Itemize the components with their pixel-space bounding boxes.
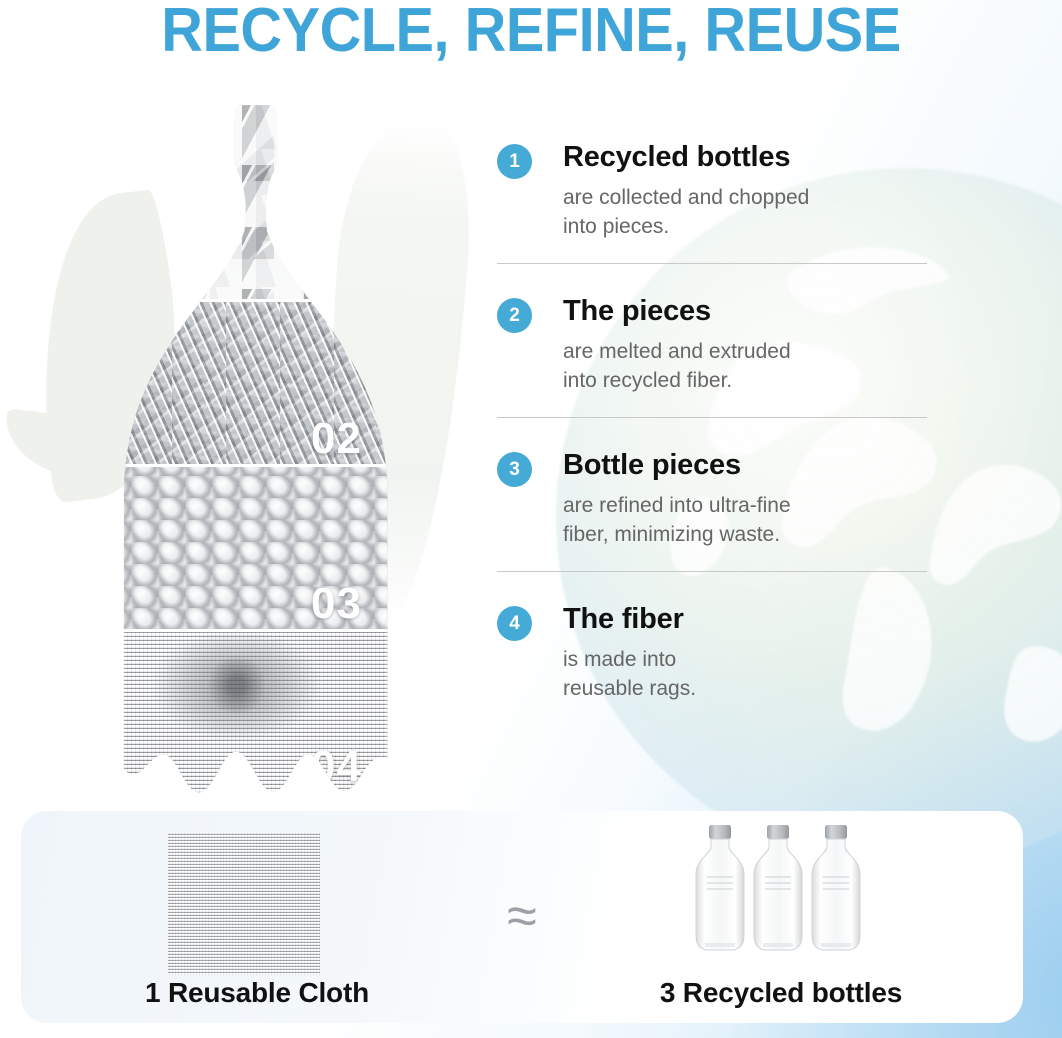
step-badge-1: 1 bbox=[497, 144, 532, 179]
spacer bbox=[497, 418, 927, 448]
process-step-list: 1 Recycled bottles are collected and cho… bbox=[497, 140, 927, 703]
cloth-column: 1 Reusable Cloth bbox=[57, 811, 457, 1023]
approximately-equal-icon: ≈ bbox=[491, 889, 553, 943]
bottle-segment-number: 01 bbox=[311, 252, 362, 296]
cloth-swatch-image bbox=[168, 833, 320, 975]
process-step-2: 2 The pieces are melted and extruded int… bbox=[497, 294, 927, 395]
background-leaf-small bbox=[1, 409, 115, 482]
bottle-segment-04: 04 bbox=[118, 630, 388, 793]
step-title-1: Recycled bottles bbox=[563, 140, 927, 174]
texture-crushed-flakes bbox=[118, 103, 388, 300]
bottle-segment-01: 01 bbox=[118, 103, 388, 300]
bottle-diagram: 01 02 03 04 bbox=[118, 103, 388, 793]
step-title-2: The pieces bbox=[563, 294, 927, 328]
bottle-segment-number: 04 bbox=[311, 745, 362, 789]
equivalence-panel: 1 Reusable Cloth ≈ bbox=[21, 811, 1023, 1023]
step-badge-2: 2 bbox=[497, 298, 532, 333]
step-body-2: are melted and extruded into recycled fi… bbox=[563, 337, 927, 395]
bottle-segment-03: 03 bbox=[118, 465, 388, 630]
step-badge-3: 3 bbox=[497, 452, 532, 487]
segment-divider bbox=[118, 629, 388, 632]
step-badge-4: 4 bbox=[497, 606, 532, 641]
process-step-1: 1 Recycled bottles are collected and cho… bbox=[497, 140, 927, 241]
infographic-page: RECYCLE, REFINE, REUSE 01 02 03 bbox=[0, 0, 1062, 1038]
spacer bbox=[497, 264, 927, 294]
segment-divider bbox=[118, 464, 388, 467]
segment-divider bbox=[118, 299, 388, 302]
spacer bbox=[497, 572, 927, 602]
step-body-3: are refined into ultra-fine fiber, minim… bbox=[563, 491, 927, 549]
step-body-1: are collected and chopped into pieces. bbox=[563, 183, 927, 241]
bottle-icon bbox=[809, 823, 863, 973]
page-title: RECYCLE, REFINE, REUSE bbox=[37, 0, 1025, 64]
process-step-4: 4 The fiber is made into reusable rags. bbox=[497, 602, 927, 703]
bottle-trio-image bbox=[693, 823, 863, 973]
step-title-3: Bottle pieces bbox=[563, 448, 927, 482]
bottle-icon bbox=[693, 823, 747, 973]
bottle-segment-02: 02 bbox=[118, 300, 388, 465]
bottle-icon bbox=[751, 823, 805, 973]
cloth-label: 1 Reusable Cloth bbox=[57, 977, 457, 1009]
step-title-4: The fiber bbox=[563, 602, 927, 636]
process-step-3: 3 Bottle pieces are refined into ultra-f… bbox=[497, 448, 927, 549]
step-body-4: is made into reusable rags. bbox=[563, 645, 927, 703]
bottle-segment-number: 02 bbox=[311, 417, 362, 461]
bottles-column: 3 Recycled bottles bbox=[581, 811, 981, 1023]
bottle-segment-number: 03 bbox=[311, 582, 362, 626]
bottles-label: 3 Recycled bottles bbox=[581, 977, 981, 1009]
